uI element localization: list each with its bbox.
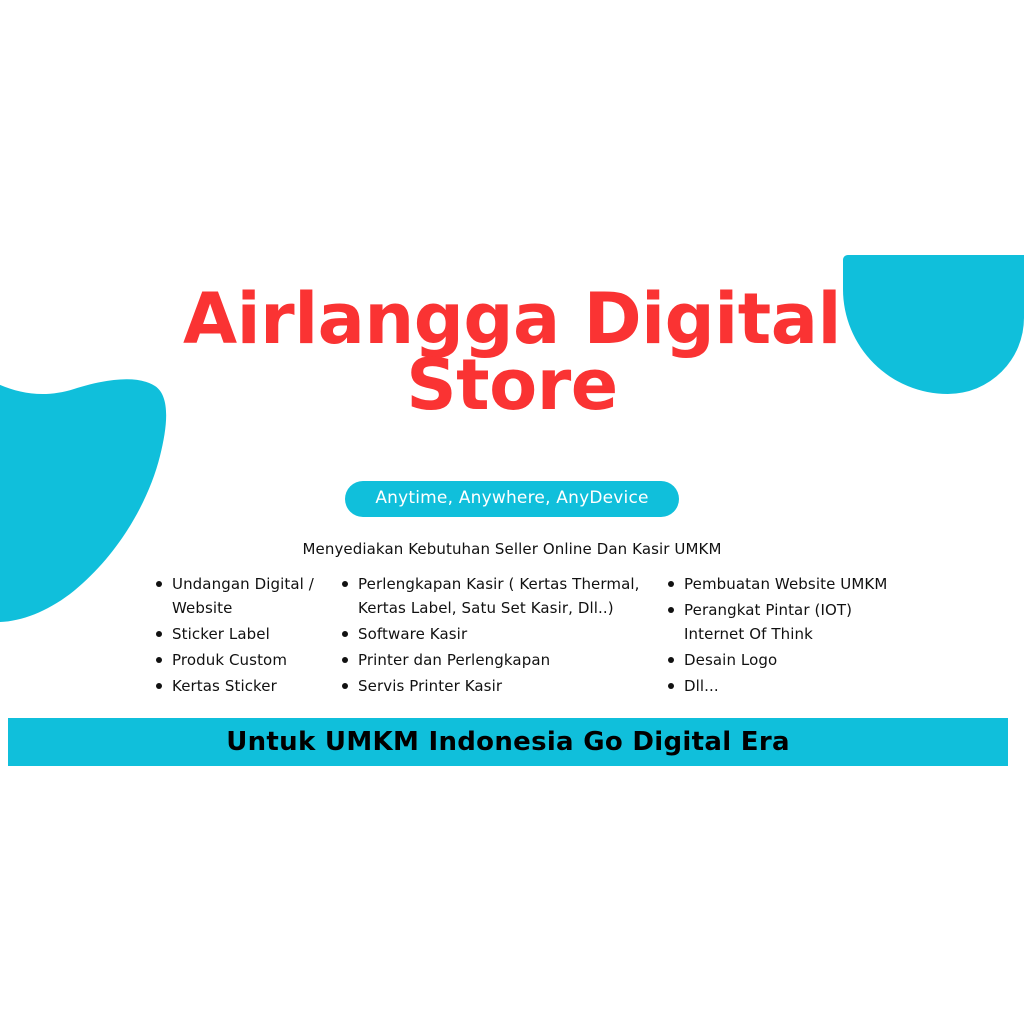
bullet-dot-icon (668, 683, 674, 689)
list-item: Software Kasir (338, 622, 658, 646)
list-item-label: Sticker Label (172, 622, 342, 646)
poster-canvas: Airlangga Digital Store Anytime, Anywher… (0, 0, 1024, 1024)
bullet-dot-icon (342, 683, 348, 689)
list-item: Kertas Sticker (152, 674, 342, 698)
list-item-label: Servis Printer Kasir (358, 674, 658, 698)
tagline-pill: Anytime, Anywhere, AnyDevice (345, 481, 678, 517)
list-item-label: Desain Logo (684, 648, 914, 672)
service-list-3: Pembuatan Website UMKM Perangkat Pintar … (664, 572, 914, 698)
list-item: Perangkat Pintar (IOT) Internet Of Think (664, 598, 914, 646)
list-item: Desain Logo (664, 648, 914, 672)
list-item: Sticker Label (152, 622, 342, 646)
bullet-dot-icon (668, 607, 674, 613)
list-item-label: Undangan Digital / Website (172, 572, 342, 620)
list-item-label: Perlengkapan Kasir ( Kertas Thermal, Ker… (358, 572, 658, 620)
list-item-label: Kertas Sticker (172, 674, 342, 698)
title-line-2: Store (0, 352, 1024, 418)
list-item: Undangan Digital / Website (152, 572, 342, 620)
list-item-label: Perangkat Pintar (IOT) Internet Of Think (684, 598, 914, 646)
subtitle-wrap: Menyediakan Kebutuhan Seller Online Dan … (0, 539, 1024, 559)
list-item-label: Software Kasir (358, 622, 658, 646)
services-column-1: Undangan Digital / Website Sticker Label… (152, 572, 342, 700)
bullet-dot-icon (668, 657, 674, 663)
services-column-2: Perlengkapan Kasir ( Kertas Thermal, Ker… (338, 572, 658, 700)
bottom-banner: Untuk UMKM Indonesia Go Digital Era (8, 718, 1008, 766)
list-item: Servis Printer Kasir (338, 674, 658, 698)
list-item-label: Printer dan Perlengkapan (358, 648, 658, 672)
service-list-2: Perlengkapan Kasir ( Kertas Thermal, Ker… (338, 572, 658, 698)
list-item: Produk Custom (152, 648, 342, 672)
bullet-dot-icon (668, 581, 674, 587)
bullet-dot-icon (342, 581, 348, 587)
subtitle-text: Menyediakan Kebutuhan Seller Online Dan … (302, 540, 721, 559)
bullet-dot-icon (342, 631, 348, 637)
list-item-label: Produk Custom (172, 648, 342, 672)
title-line-1: Airlangga Digital (0, 286, 1024, 352)
services-columns: Undangan Digital / Website Sticker Label… (0, 572, 1024, 702)
services-column-3: Pembuatan Website UMKM Perangkat Pintar … (664, 572, 914, 700)
list-item-label: Pembuatan Website UMKM (684, 572, 914, 596)
list-item: Printer dan Perlengkapan (338, 648, 658, 672)
list-item: Perlengkapan Kasir ( Kertas Thermal, Ker… (338, 572, 658, 620)
bullet-dot-icon (342, 657, 348, 663)
list-item: Dll... (664, 674, 914, 698)
page-title: Airlangga Digital Store (0, 286, 1024, 418)
bottom-banner-text: Untuk UMKM Indonesia Go Digital Era (226, 727, 790, 757)
bullet-dot-icon (156, 683, 162, 689)
bullet-dot-icon (156, 581, 162, 587)
bullet-dot-icon (156, 657, 162, 663)
list-item-label: Dll... (684, 674, 914, 698)
list-item: Pembuatan Website UMKM (664, 572, 914, 596)
tagline-pill-wrap: Anytime, Anywhere, AnyDevice (0, 481, 1024, 517)
service-list-1: Undangan Digital / Website Sticker Label… (152, 572, 342, 698)
bullet-dot-icon (156, 631, 162, 637)
